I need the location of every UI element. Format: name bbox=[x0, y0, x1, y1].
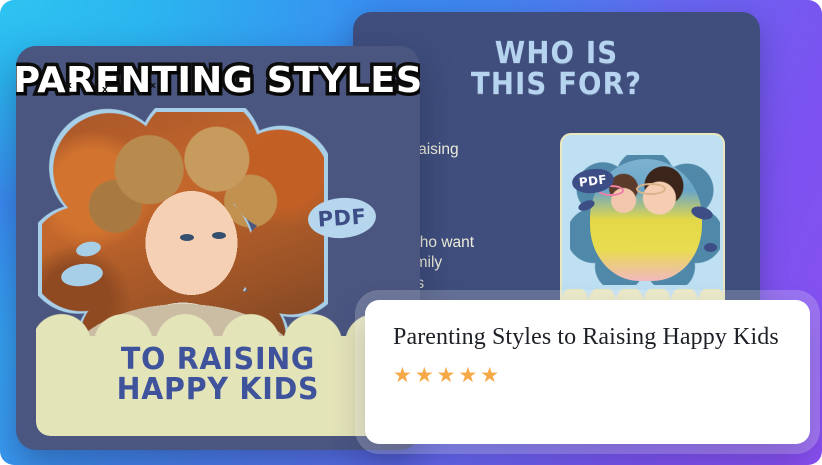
info-card-title: Parenting Styles to Raising Happy Kids bbox=[393, 322, 782, 353]
mini-glasses-adult-icon bbox=[636, 183, 666, 195]
poster-canvas: WHO ISTHIS FOR? yone raisingldren ople w… bbox=[0, 0, 822, 465]
rating-stars[interactable]: ★★★★★ bbox=[393, 365, 782, 386]
hero-eye-right-icon bbox=[212, 232, 226, 239]
back-slide-heading: WHO ISTHIS FOR? bbox=[369, 38, 743, 100]
front-slide-subtitle: TO RAISINGHAPPY KIDS bbox=[45, 345, 391, 406]
front-slide-title: PARENTING STYLES bbox=[16, 60, 420, 101]
hero-eye-left-icon bbox=[180, 234, 194, 241]
mini-blob-decoration-3 bbox=[704, 243, 717, 252]
info-card[interactable]: Parenting Styles to Raising Happy Kids ★… bbox=[365, 300, 810, 444]
front-slide[interactable]: PARENTING STYLES x x x PDF TO RAISINGHAP… bbox=[16, 46, 420, 450]
